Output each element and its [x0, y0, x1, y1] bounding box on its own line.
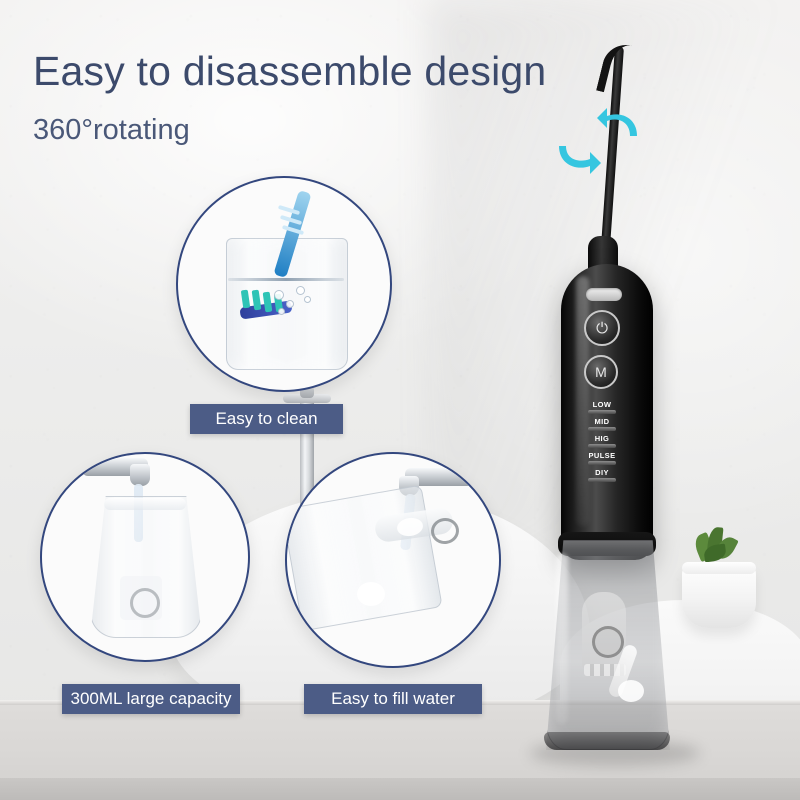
- water-bubble: [296, 286, 305, 295]
- water-surface: [228, 278, 344, 281]
- tank-filling-photo: [40, 452, 250, 662]
- nozzle-release-button[interactable]: [586, 288, 622, 301]
- mode-row-low[interactable]: LOW: [575, 400, 629, 414]
- rotate-arrow-left-icon: [596, 105, 640, 141]
- tank-rim: [104, 498, 186, 510]
- toothbrush-in-glass-photo: [176, 176, 392, 392]
- page-title: Easy to disassemble design: [33, 48, 546, 95]
- countertop-front: [0, 778, 800, 800]
- caption-large-capacity: 300ML large capacity: [62, 684, 240, 714]
- cordless-water-flosser: ⏻ M LOW MID HIG PULSE DIY: [520, 40, 700, 720]
- mode-label: PULSE: [575, 451, 629, 460]
- water-tank-photo: [285, 485, 443, 632]
- mode-label: HIG: [575, 434, 629, 443]
- power-button[interactable]: ⏻: [584, 310, 620, 346]
- water-bubble: [278, 308, 285, 315]
- mode-led: [588, 478, 616, 482]
- intake-filter: [618, 680, 644, 702]
- valve-ring: [592, 626, 624, 658]
- mode-label: LOW: [575, 400, 629, 409]
- water-bubble: [274, 290, 284, 300]
- mode-led: [588, 444, 616, 448]
- caption-easy-to-clean: Easy to clean: [190, 404, 343, 434]
- mode-led: [588, 461, 616, 465]
- faucet-outlet: [130, 464, 150, 486]
- mode-indicator-panel: LOW MID HIG PULSE DIY: [575, 400, 629, 485]
- mode-label: MID: [575, 417, 629, 426]
- mode-row-diy[interactable]: DIY: [575, 468, 629, 482]
- mode-row-mid[interactable]: MID: [575, 417, 629, 431]
- valve-ring-photo: [130, 588, 160, 618]
- inset-photo-content: [287, 454, 499, 666]
- nozzle-tip: [596, 40, 632, 96]
- caption-easy-to-fill: Easy to fill water: [304, 684, 482, 714]
- mode-label: DIY: [575, 468, 629, 477]
- page-subtitle: 360°rotating: [33, 114, 190, 147]
- tank-base: [544, 732, 670, 750]
- water-bubble: [304, 296, 311, 303]
- rotate-arrow-right-icon: [556, 140, 602, 178]
- mode-button[interactable]: M: [584, 355, 618, 389]
- tank-highlight: [556, 554, 568, 724]
- power-icon: ⏻: [596, 320, 608, 337]
- inset-photo-content: [42, 454, 248, 660]
- mode-icon: M: [595, 364, 607, 380]
- mode-row-hig[interactable]: HIG: [575, 434, 629, 448]
- mode-led: [588, 427, 616, 431]
- tank-tilted-filling-photo: [285, 452, 501, 668]
- inset-photo-content: [178, 178, 390, 390]
- mode-led: [588, 410, 616, 414]
- intake-filter-photo: [357, 582, 385, 606]
- mode-row-pulse[interactable]: PULSE: [575, 451, 629, 465]
- product-marketing-image: Easy to disassemble design 360°rotating …: [0, 0, 800, 800]
- water-bubble: [286, 300, 294, 308]
